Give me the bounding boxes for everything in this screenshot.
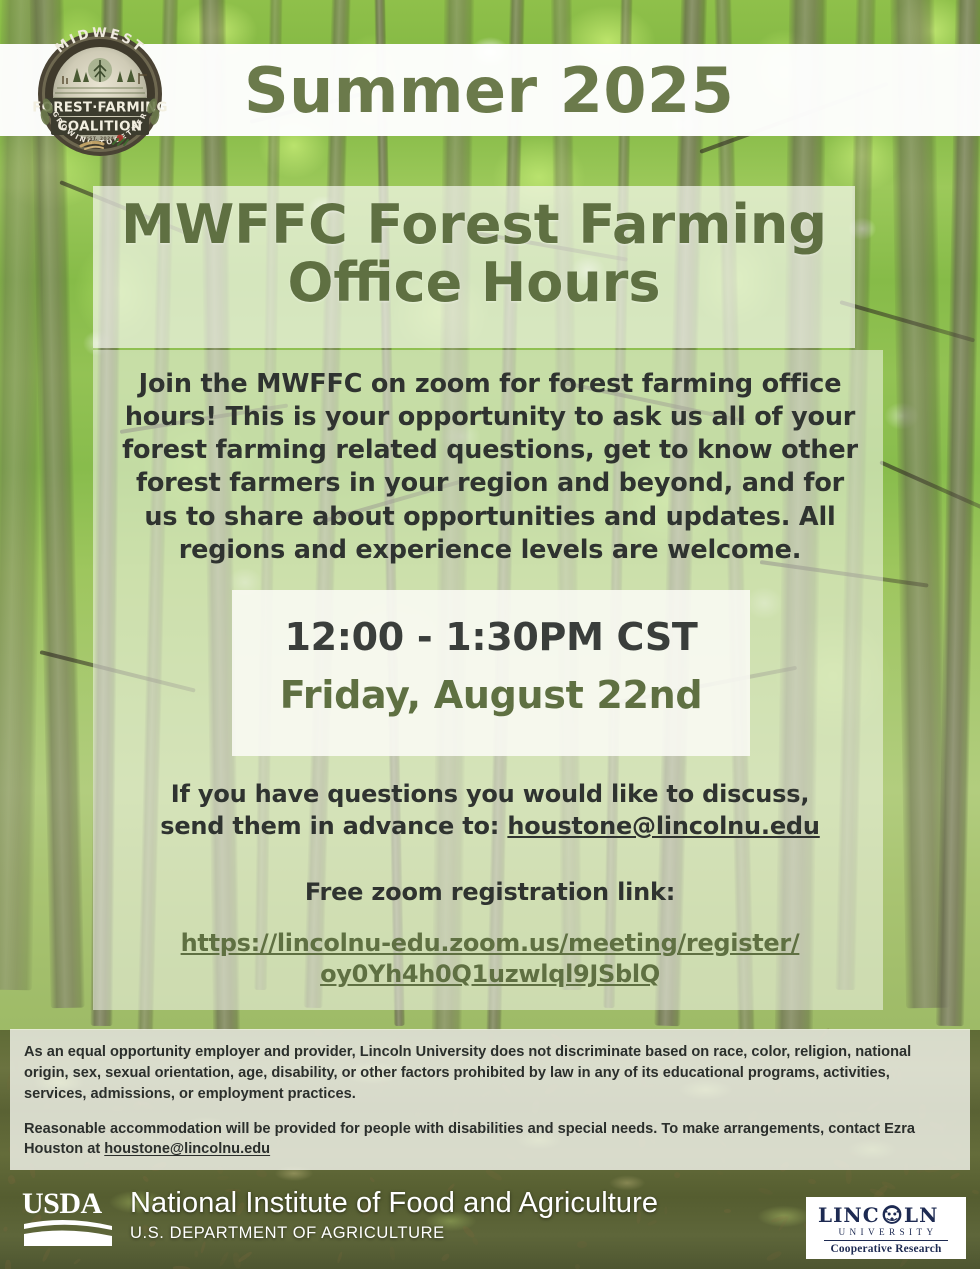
disclaimer-email-link[interactable]: houstone@lincolnu.edu [104,1141,270,1157]
lincoln-tagline: Cooperative Research [830,1243,941,1255]
lincoln-university-logo: LINC LN UNIVERSITY Cooperative Research [806,1197,966,1259]
disclaimer-block: As an equal opportunity employer and pro… [24,1042,956,1160]
page-title-line1: MWFFC Forest Farming [93,196,855,254]
page-title-line2: Office Hours [93,254,855,312]
questions-line1: If you have questions you would like to … [140,778,840,810]
questions-line2: send them in advance to: houstone@lincol… [140,810,840,842]
flyer-content: Summer 2025 [0,0,980,1269]
usda-logo-icon: USDA [22,1186,116,1248]
lincoln-divider [824,1240,948,1241]
usda-wordmark: USDA [22,1187,103,1220]
registration-url-line1[interactable]: https://lincolnu-edu.zoom.us/meeting/reg… [181,929,800,957]
disclaimer-paragraph-1: As an equal opportunity employer and pro… [24,1042,956,1105]
mwffc-seal-logo: FOREST·FARMING COALITION MIDWEST GROWING… [21,18,179,158]
registration-label: Free zoom registration link: [140,878,840,906]
tiger-head-icon [883,1205,902,1224]
contact-email-link[interactable]: houstone@lincolnu.edu [507,812,819,840]
usda-text-block: National Institute of Food and Agricultu… [130,1186,658,1243]
questions-block: If you have questions you would like to … [140,778,840,842]
usda-footer: USDA National Institute of Food and Agri… [22,1186,658,1248]
registration-url-line2[interactable]: oy0Yh4h0Q1uzwlql9JSblQ [320,960,660,988]
flyer-canvas: Summer 2025 [0,0,980,1269]
lincoln-wordmark-left: LINC [818,1203,880,1226]
lincoln-wordmark-right: LN [904,1203,938,1226]
disclaimer-paragraph-2: Reasonable accommodation will be provide… [24,1119,956,1161]
usda-department: U.S. DEPARTMENT OF AGRICULTURE [130,1224,658,1243]
seal-established: EST. 2024 [86,136,114,142]
event-time: 12:00 - 1:30PM CST [232,615,750,659]
body-paragraph: Join the MWFFC on zoom for forest farmin… [118,368,862,567]
questions-line2-prefix: send them in advance to: [160,812,507,840]
season-title: Summer 2025 [244,54,734,127]
event-date: Friday, August 22nd [232,673,750,717]
nifa-name: National Institute of Food and Agricultu… [130,1188,658,1219]
registration-link[interactable]: https://lincolnu-edu.zoom.us/meeting/reg… [120,928,860,990]
lincoln-university-word: UNIVERSITY [834,1227,937,1237]
page-title: MWFFC Forest Farming Office Hours [93,196,855,313]
